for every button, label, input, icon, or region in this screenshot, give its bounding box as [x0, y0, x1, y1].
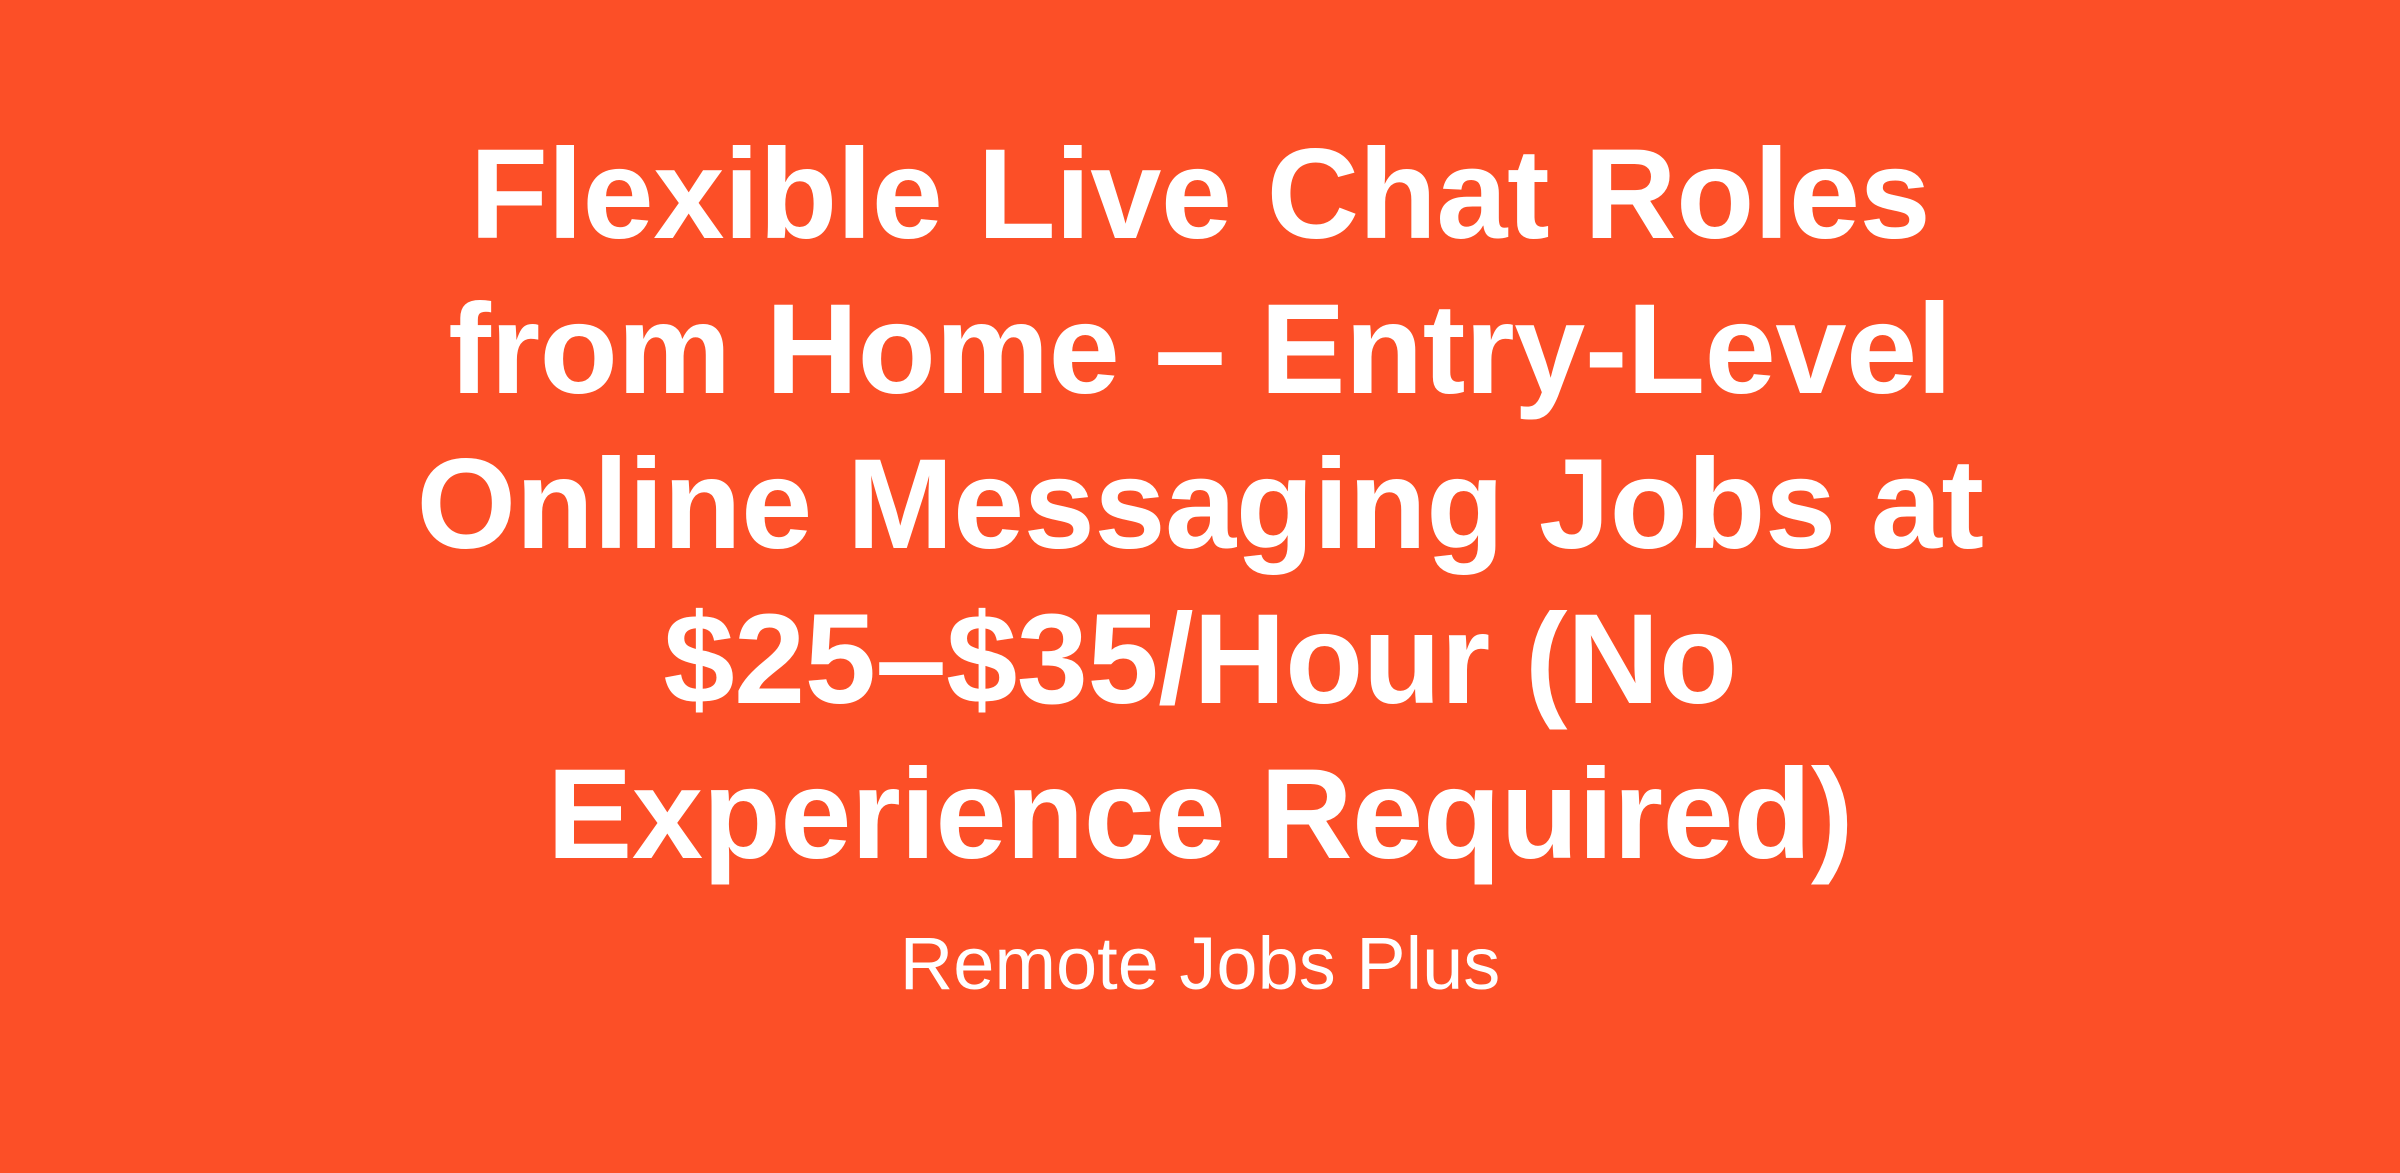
site-name-subtitle: Remote Jobs Plus	[900, 920, 1501, 1008]
page-title: Flexible Live Chat Roles from Home – Ent…	[330, 117, 2070, 892]
link-preview-card: Flexible Live Chat Roles from Home – Ent…	[0, 0, 2400, 1173]
card-content: Flexible Live Chat Roles from Home – Ent…	[330, 117, 2070, 1008]
